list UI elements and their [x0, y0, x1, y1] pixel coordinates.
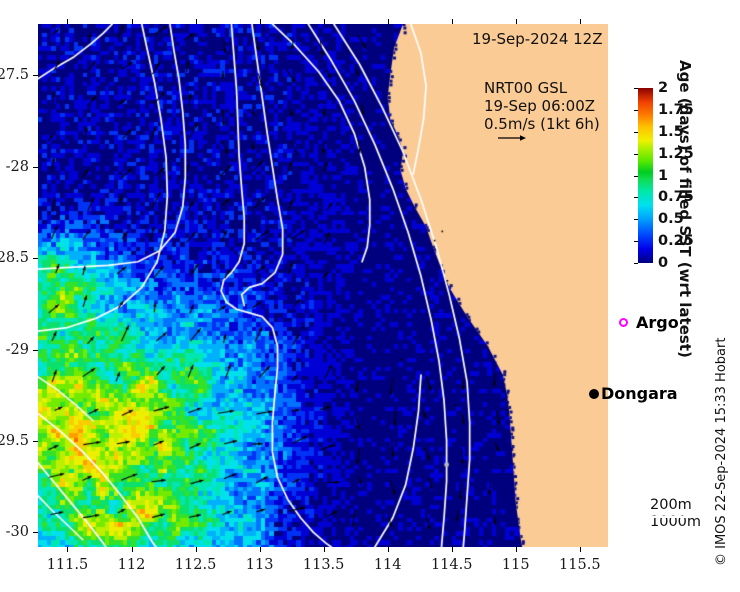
x-tick-label: 112.5 [175, 557, 217, 573]
product-name-label: NRT00 GSL [484, 79, 567, 97]
colorbar-tick-mark [634, 241, 638, 242]
depth-contour-legend: 200m 1000m [650, 497, 710, 531]
x-tick-label: 114 [374, 557, 402, 573]
y-tick-mark [33, 167, 38, 168]
arrow-right-icon [497, 132, 527, 144]
y-tick-label: -30 [6, 524, 29, 540]
colorbar-tick-mark [634, 197, 638, 198]
x-tick-mark-top [388, 19, 389, 24]
x-tick-label: 115.5 [559, 557, 601, 573]
x-tick-label: 113 [246, 557, 274, 573]
x-tick-mark-top [196, 19, 197, 24]
depth-legend-1000m-rule [651, 534, 706, 536]
y-tick-label: -28.5 [0, 250, 29, 266]
x-tick-mark-top [516, 19, 517, 24]
x-tick-label: 112 [118, 557, 146, 573]
x-tick-mark [132, 547, 133, 552]
colorbar-tick-mark [634, 263, 638, 264]
x-tick-mark [452, 547, 453, 552]
colorbar-title: Age (days) of filled SST (wrt latest) [672, 60, 694, 300]
x-tick-mark [580, 547, 581, 552]
depth-legend-200m-rule [651, 516, 706, 518]
colorbar-tick-mark [634, 88, 638, 89]
argo-label: Argo [636, 313, 679, 332]
colorbar-tick-mark [634, 132, 638, 133]
colorbar-tick-label: 2 [658, 80, 668, 96]
x-tick-label: 114.5 [431, 557, 473, 573]
y-tick-mark [33, 75, 38, 76]
depth-legend-200m: 200m [650, 497, 710, 514]
x-tick-mark-top [67, 19, 68, 24]
timestamp-label: 19-Sep-2024 12Z [472, 30, 603, 48]
dongara-marker-icon[interactable] [589, 389, 599, 399]
x-tick-mark-top [324, 19, 325, 24]
y-tick-mark [33, 532, 38, 533]
vector-scale-label: 0.5m/s (1kt 6h) [484, 115, 600, 133]
copyright-credit: © IMOS 22-Sep-2024 15:33 Hobart [714, 296, 734, 566]
x-tick-mark [260, 547, 261, 552]
y-tick-label: -27.5 [0, 67, 29, 83]
x-tick-label: 115 [502, 557, 530, 573]
colorbar-gradient [638, 88, 653, 263]
x-tick-mark [388, 547, 389, 552]
y-tick-label: -29 [6, 342, 29, 358]
x-tick-mark-top [260, 19, 261, 24]
y-tick-mark [33, 350, 38, 351]
colorbar[interactable]: 00.250.50.7511.251.51.752 [638, 88, 653, 263]
x-tick-mark [67, 547, 68, 552]
colorbar-tick-mark [634, 176, 638, 177]
y-tick-label: -28 [6, 159, 29, 175]
figure-canvas: 111.5112112.5113113.5114114.5115115.5 -2… [0, 0, 740, 592]
x-tick-mark-top [132, 19, 133, 24]
x-tick-label: 113.5 [303, 557, 345, 573]
x-tick-label: 111.5 [47, 557, 89, 573]
dongara-label: Dongara [601, 384, 678, 403]
colorbar-tick-mark [634, 219, 638, 220]
y-tick-mark [33, 258, 38, 259]
colorbar-tick-mark [634, 154, 638, 155]
x-tick-mark [516, 547, 517, 552]
x-tick-mark-top [580, 19, 581, 24]
y-tick-mark [33, 441, 38, 442]
x-tick-mark [196, 547, 197, 552]
colorbar-tick-label: 0 [658, 255, 668, 271]
colorbar-tick-label: 1 [658, 168, 668, 184]
argo-marker-icon[interactable] [619, 318, 628, 327]
x-tick-mark-top [452, 19, 453, 24]
colorbar-tick-mark [634, 110, 638, 111]
y-tick-label: -29.5 [0, 433, 29, 449]
x-tick-mark [324, 547, 325, 552]
product-time-label: 19-Sep 06:00Z [484, 97, 595, 115]
